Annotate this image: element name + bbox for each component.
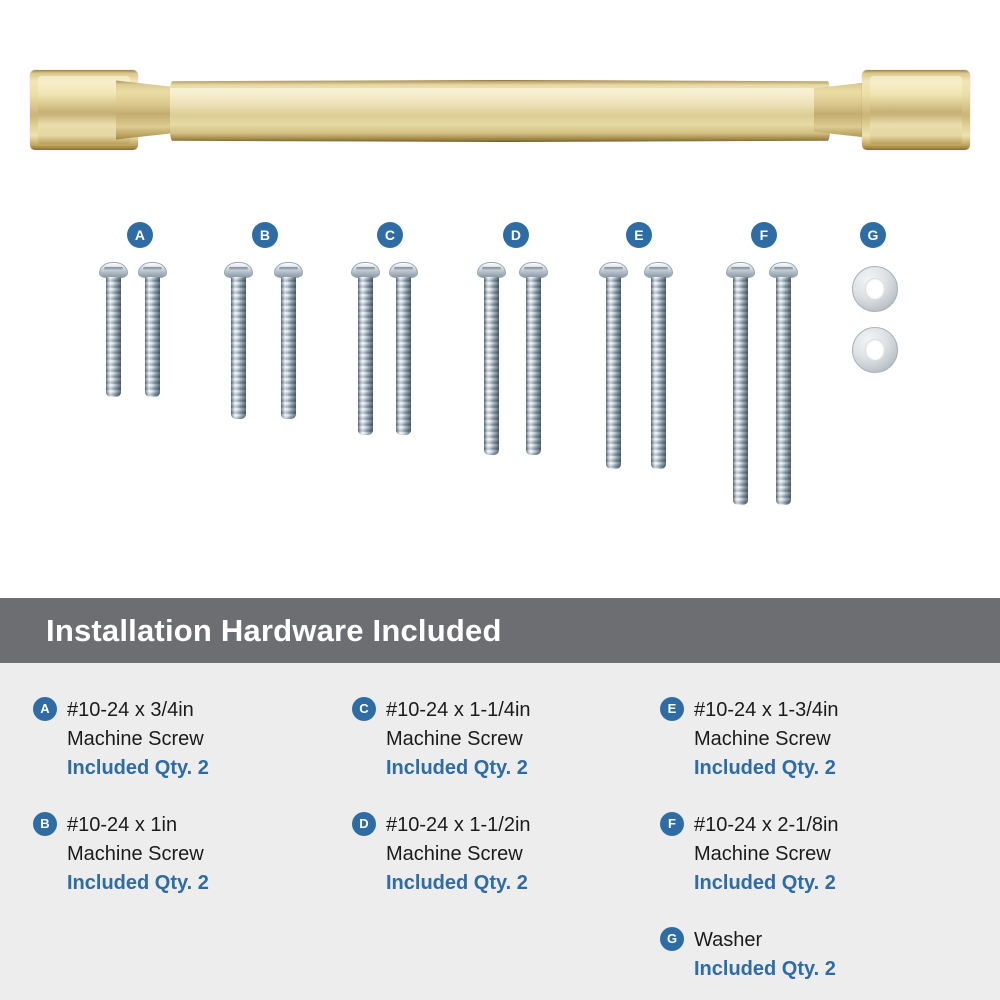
product-illustration-area: ABCDEFG	[0, 0, 1000, 598]
legend-item-b: B#10-24 x 1inMachine ScrewIncluded Qty. …	[33, 811, 340, 898]
handle-post-right	[862, 70, 970, 150]
washer-2	[852, 327, 898, 373]
screw-slot-icon	[394, 267, 413, 270]
legend-part-name: Washer	[694, 926, 1000, 955]
handle-post-right-highlight	[870, 76, 962, 144]
legend-included-qty: Included Qty. 2	[67, 754, 340, 783]
legend-included-qty: Included Qty. 2	[694, 754, 1000, 783]
legend-part-name: #10-24 x 1-1/4in	[386, 696, 650, 725]
screw-f-1	[733, 262, 748, 506]
callout-badge-c: C	[377, 222, 403, 248]
screw-threaded-shaft	[733, 277, 748, 505]
screw-head-icon	[519, 262, 548, 278]
screw-threaded-shaft	[651, 277, 666, 469]
screw-e-1	[606, 262, 621, 470]
screw-threaded-shaft	[281, 277, 296, 419]
callout-badge-e: E	[626, 222, 652, 248]
screw-threaded-shaft	[776, 277, 791, 505]
legend-part-type: Machine Screw	[694, 725, 1000, 754]
legend-item-d: D#10-24 x 1-1/2inMachine ScrewIncluded Q…	[352, 811, 650, 898]
screw-head-icon	[274, 262, 303, 278]
screw-slot-icon	[731, 267, 750, 270]
screw-head-icon	[599, 262, 628, 278]
callout-badge-b: B	[252, 222, 278, 248]
screw-threaded-shaft	[606, 277, 621, 469]
screw-slot-icon	[356, 267, 375, 270]
screw-head-icon	[99, 262, 128, 278]
hardware-legend-panel: A#10-24 x 3/4inMachine ScrewIncluded Qty…	[0, 663, 1000, 1000]
screw-head-icon	[726, 262, 755, 278]
screw-head-icon	[224, 262, 253, 278]
legend-badge-b: B	[33, 812, 57, 836]
screw-b-1	[231, 262, 246, 420]
screw-c-1	[358, 262, 373, 436]
screw-head-icon	[477, 262, 506, 278]
legend-included-qty: Included Qty. 2	[694, 869, 1000, 898]
screw-slot-icon	[229, 267, 248, 270]
screw-a-2	[145, 262, 160, 398]
legend-part-name: #10-24 x 1in	[67, 811, 340, 840]
screw-threaded-shaft	[231, 277, 246, 419]
screw-head-icon	[769, 262, 798, 278]
legend-included-qty: Included Qty. 2	[694, 955, 1000, 984]
handle-bar	[170, 80, 830, 142]
screw-head-icon	[351, 262, 380, 278]
legend-part-type: Machine Screw	[386, 840, 650, 869]
legend-badge-e: E	[660, 697, 684, 721]
legend-item-g: GWasherIncluded Qty. 2	[660, 926, 1000, 984]
legend-badge-d: D	[352, 812, 376, 836]
legend-part-type: Machine Screw	[694, 840, 1000, 869]
callout-badge-a: A	[127, 222, 153, 248]
screw-threaded-shaft	[484, 277, 499, 455]
legend-column-1: A#10-24 x 3/4inMachine ScrewIncluded Qty…	[0, 663, 340, 1000]
legend-part-type: Machine Screw	[67, 725, 340, 754]
screw-slot-icon	[774, 267, 793, 270]
legend-column-2: C#10-24 x 1-1/4inMachine ScrewIncluded Q…	[340, 663, 650, 1000]
legend-part-name: #10-24 x 2-1/8in	[694, 811, 1000, 840]
callout-badge-d: D	[503, 222, 529, 248]
callout-badge-g: G	[860, 222, 886, 248]
hardware-spec-sheet: ABCDEFG Installation Hardware Included A…	[0, 0, 1000, 1000]
legend-part-name: #10-24 x 1-3/4in	[694, 696, 1000, 725]
hardware-header-bar: Installation Hardware Included	[0, 598, 1000, 663]
legend-badge-f: F	[660, 812, 684, 836]
screw-slot-icon	[482, 267, 501, 270]
screw-threaded-shaft	[106, 277, 121, 397]
screw-threaded-shaft	[396, 277, 411, 435]
screw-c-2	[396, 262, 411, 436]
legend-part-type: Machine Screw	[386, 725, 650, 754]
legend-included-qty: Included Qty. 2	[386, 869, 650, 898]
screw-slot-icon	[649, 267, 668, 270]
screw-slot-icon	[524, 267, 543, 270]
legend-part-type: Machine Screw	[67, 840, 340, 869]
screw-threaded-shaft	[526, 277, 541, 455]
screw-head-icon	[644, 262, 673, 278]
screw-threaded-shaft	[145, 277, 160, 397]
legend-badge-g: G	[660, 927, 684, 951]
legend-part-name: #10-24 x 1-1/2in	[386, 811, 650, 840]
screw-slot-icon	[279, 267, 298, 270]
screw-e-2	[651, 262, 666, 470]
callout-badge-f: F	[751, 222, 777, 248]
screw-head-icon	[389, 262, 418, 278]
screw-slot-icon	[604, 267, 623, 270]
screw-a-1	[106, 262, 121, 398]
cabinet-pull-handle-image	[30, 68, 970, 152]
screw-f-2	[776, 262, 791, 506]
hardware-header-title: Installation Hardware Included	[46, 613, 502, 649]
legend-included-qty: Included Qty. 2	[386, 754, 650, 783]
legend-part-name: #10-24 x 3/4in	[67, 696, 340, 725]
screw-slot-icon	[104, 267, 123, 270]
legend-column-3: E#10-24 x 1-3/4inMachine ScrewIncluded Q…	[650, 663, 1000, 1000]
washer-1	[852, 266, 898, 312]
hardware-legend-grid: A#10-24 x 3/4inMachine ScrewIncluded Qty…	[0, 663, 1000, 1000]
screw-head-icon	[138, 262, 167, 278]
legend-item-e: E#10-24 x 1-3/4inMachine ScrewIncluded Q…	[660, 696, 1000, 783]
legend-item-c: C#10-24 x 1-1/4inMachine ScrewIncluded Q…	[352, 696, 650, 783]
screw-d-2	[526, 262, 541, 456]
legend-item-a: A#10-24 x 3/4inMachine ScrewIncluded Qty…	[33, 696, 340, 783]
handle-bar-sheen	[170, 88, 830, 110]
screw-d-1	[484, 262, 499, 456]
legend-included-qty: Included Qty. 2	[67, 869, 340, 898]
screw-slot-icon	[143, 267, 162, 270]
legend-badge-c: C	[352, 697, 376, 721]
legend-badge-a: A	[33, 697, 57, 721]
screw-b-2	[281, 262, 296, 420]
legend-item-f: F#10-24 x 2-1/8inMachine ScrewIncluded Q…	[660, 811, 1000, 898]
screw-threaded-shaft	[358, 277, 373, 435]
